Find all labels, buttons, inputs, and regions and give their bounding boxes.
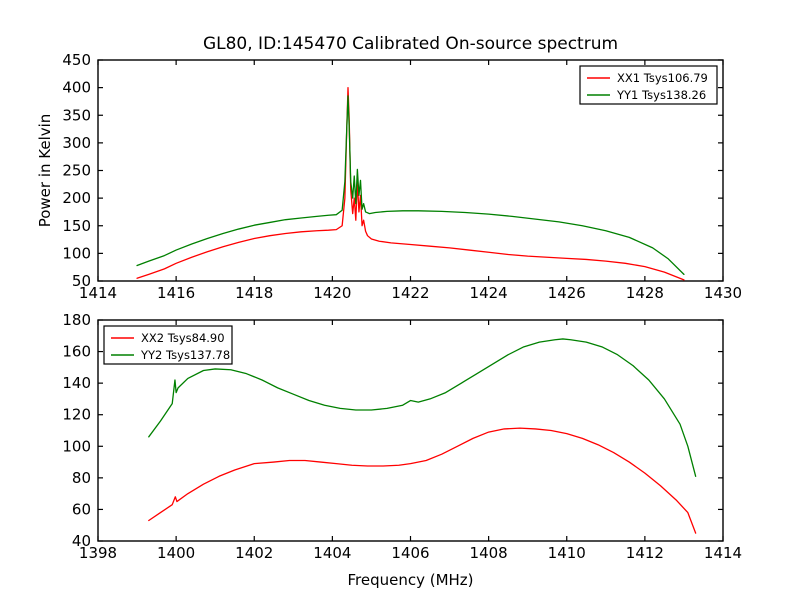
x-tick-label: 1422 [391,284,429,302]
panel-bottom: 1398140014021404140614081410141214144060… [62,311,742,589]
y-tick-label: 80 [72,469,91,487]
x-tick-label: 1400 [157,544,195,562]
x-tick-label: 1406 [391,544,429,562]
legend-top: XX1 Tsys106.79YY1 Tsys138.26 [580,66,717,104]
spectrum-figure: GL80, ID:145470 Calibrated On-source spe… [0,0,800,600]
y-tick-label: 120 [62,406,91,424]
x-tick-label: 1426 [548,284,586,302]
y-tick-label: 150 [62,217,91,235]
y-tick-label: 250 [62,162,91,180]
x-tick-label: 1418 [235,284,273,302]
series-line-xx1 [137,88,684,280]
y-tick-label: 100 [62,437,91,455]
x-tick-label: 1420 [313,284,351,302]
y-tick-label: 100 [62,244,91,262]
x-tick-label: 1402 [235,544,273,562]
y-tick-label: 50 [72,272,91,290]
y-tick-label: 180 [62,311,91,329]
y-tick-label: 160 [62,343,91,361]
x-tick-label: 1412 [626,544,664,562]
spectrum-plot-canvas: GL80, ID:145470 Calibrated On-source spe… [0,0,800,600]
y-tick-label: 40 [72,532,91,550]
legend-bottom: XX2 Tsys84.90YY2 Tsys137.78 [104,326,232,364]
x-tick-label: 1416 [157,284,195,302]
y-tick-label: 200 [62,189,91,207]
legend-label: YY1 Tsys138.26 [616,88,706,102]
x-tick-label: 1404 [313,544,351,562]
legend-label: XX1 Tsys106.79 [617,71,708,85]
x-tick-label: 1428 [626,284,664,302]
legend-label: XX2 Tsys84.90 [141,331,225,345]
x-tick-label: 1408 [470,544,508,562]
y-axis-label: Power in Kelvin [36,114,54,228]
y-tick-label: 350 [62,106,91,124]
x-tick-label: 1424 [470,284,508,302]
x-axis-label: Frequency (MHz) [347,571,473,589]
x-tick-label: 1410 [548,544,586,562]
panel-top: 1414141614181420142214241426142814305010… [36,51,742,302]
y-tick-label: 140 [62,374,91,392]
y-tick-label: 300 [62,134,91,152]
x-tick-label: 1414 [704,544,742,562]
x-tick-label: 1430 [704,284,742,302]
series-line-xx2 [149,428,696,533]
y-tick-label: 400 [62,79,91,97]
y-tick-label: 450 [62,51,91,69]
legend-label: YY2 Tsys137.78 [140,348,230,362]
y-tick-label: 60 [72,500,91,518]
chart-title: GL80, ID:145470 Calibrated On-source spe… [203,34,618,54]
